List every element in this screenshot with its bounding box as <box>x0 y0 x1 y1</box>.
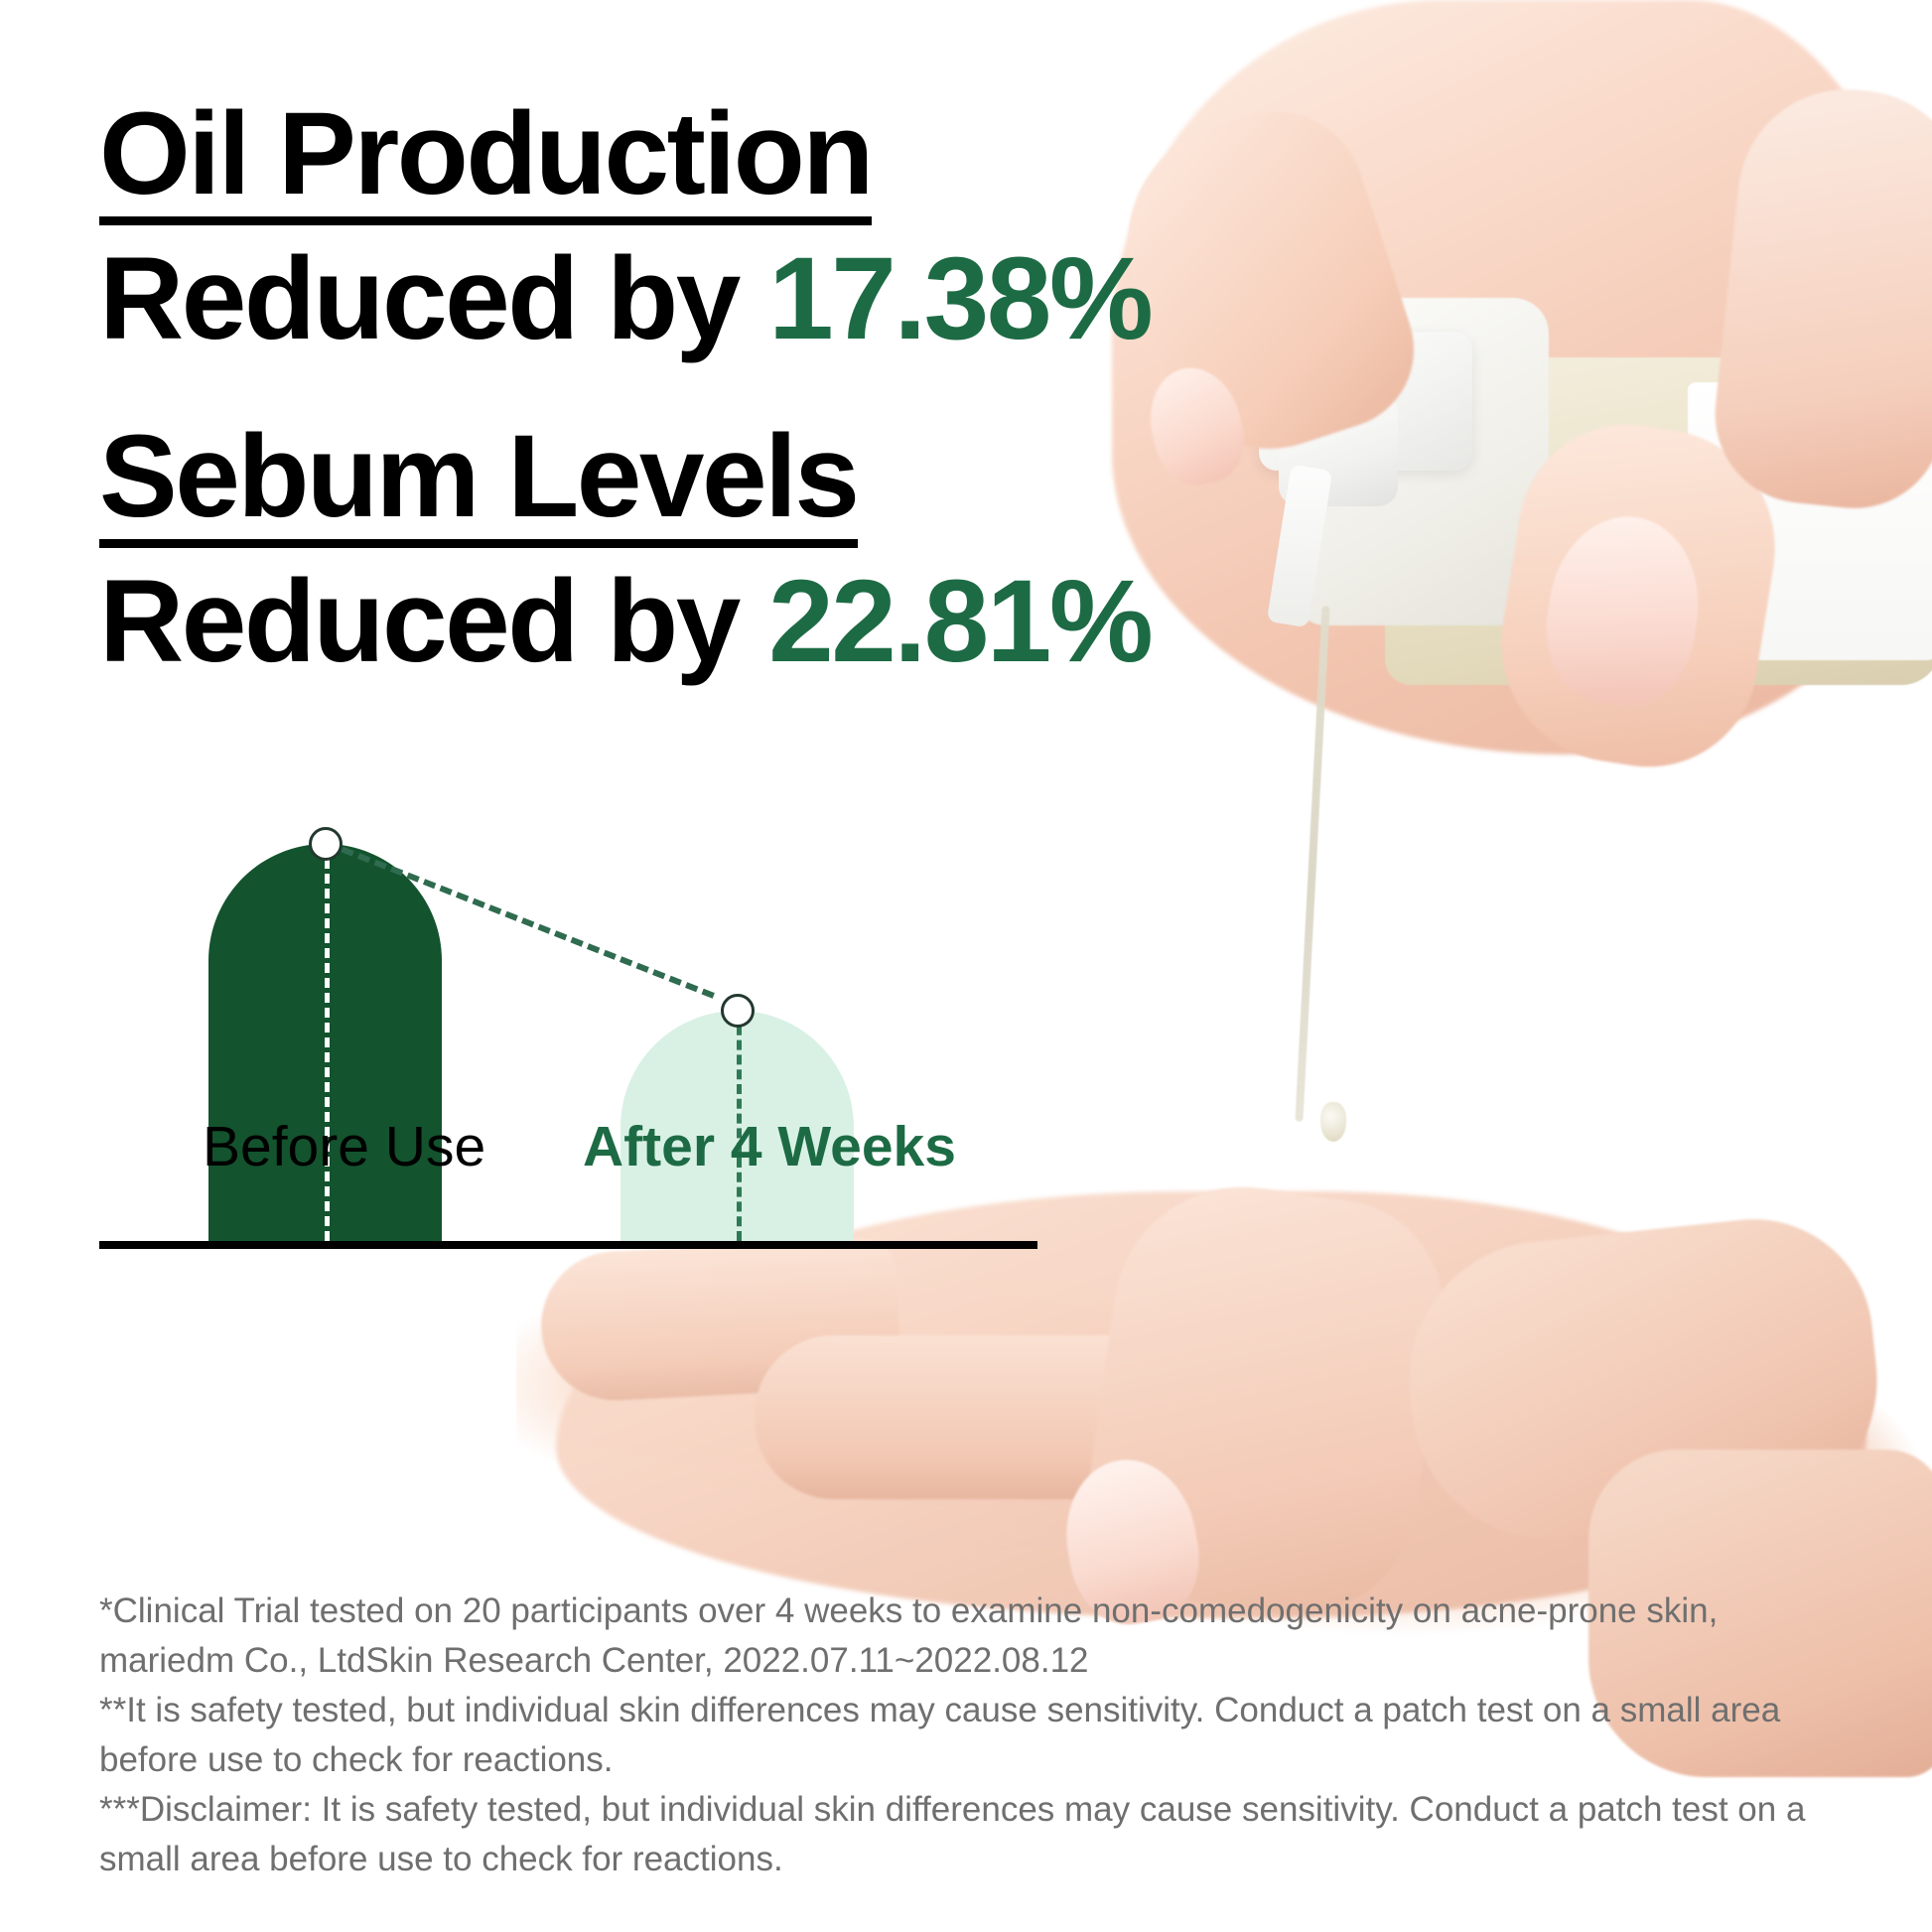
serum-stream <box>1295 606 1329 1122</box>
footnote-line-2: mariedm Co., LtdSkin Research Center, 20… <box>99 1636 1876 1686</box>
headline-block: Oil Production Reduced by 17.38% Sebum L… <box>99 95 1191 689</box>
headline-title-oil-production: Oil Production <box>99 95 872 225</box>
chart-baseline-axis <box>99 1241 1037 1249</box>
footnote-block: *Clinical Trial tested on 20 participant… <box>99 1587 1876 1884</box>
marker-dot-before-use <box>309 827 343 861</box>
category-label-after-4-weeks: After 4 Weeks <box>583 1114 956 1179</box>
footnote-line-5: ***Disclaimer: It is safety tested, but … <box>99 1785 1876 1835</box>
footnote-line-3: **It is safety tested, but individual sk… <box>99 1686 1876 1735</box>
sebum-reduction-chart: Before Use After 4 Weeks <box>99 685 1152 1241</box>
palm-surface <box>556 1191 1866 1618</box>
serum-droplet <box>1320 1102 1346 1142</box>
bottle-label <box>1688 382 1932 660</box>
footnote-line-1: *Clinical Trial tested on 20 participant… <box>99 1587 1876 1636</box>
footnote-line-6: small area before use to check for react… <box>99 1835 1876 1884</box>
headline-value-sebum-reduction: 22.81% <box>768 556 1151 687</box>
headline-prefix-2: Reduced by <box>99 556 768 687</box>
headline-row-4: Reduced by 22.81% <box>99 554 1191 689</box>
finger-palm-1 <box>537 1237 901 1405</box>
footnote-line-4: before use to check for reactions. <box>99 1735 1876 1785</box>
finger-palm-2 <box>755 1335 1251 1499</box>
headline-value-oil-reduction: 17.38% <box>768 233 1151 364</box>
headline-row-1: Oil Production <box>99 95 1191 225</box>
center-dash-before-use <box>325 844 330 1241</box>
marker-dot-after-4-weeks <box>721 994 755 1028</box>
headline-row-3: Sebum Levels <box>99 418 1191 548</box>
thumb-lower <box>1396 1207 1891 1552</box>
headline-title-sebum-levels: Sebum Levels <box>99 418 858 548</box>
headline-prefix-1: Reduced by <box>99 233 768 364</box>
marketing-banner: Oil Production Reduced by 17.38% Sebum L… <box>0 0 1932 1932</box>
headline-row-2: Reduced by 17.38% <box>99 231 1191 366</box>
category-label-before-use: Before Use <box>203 1114 485 1179</box>
